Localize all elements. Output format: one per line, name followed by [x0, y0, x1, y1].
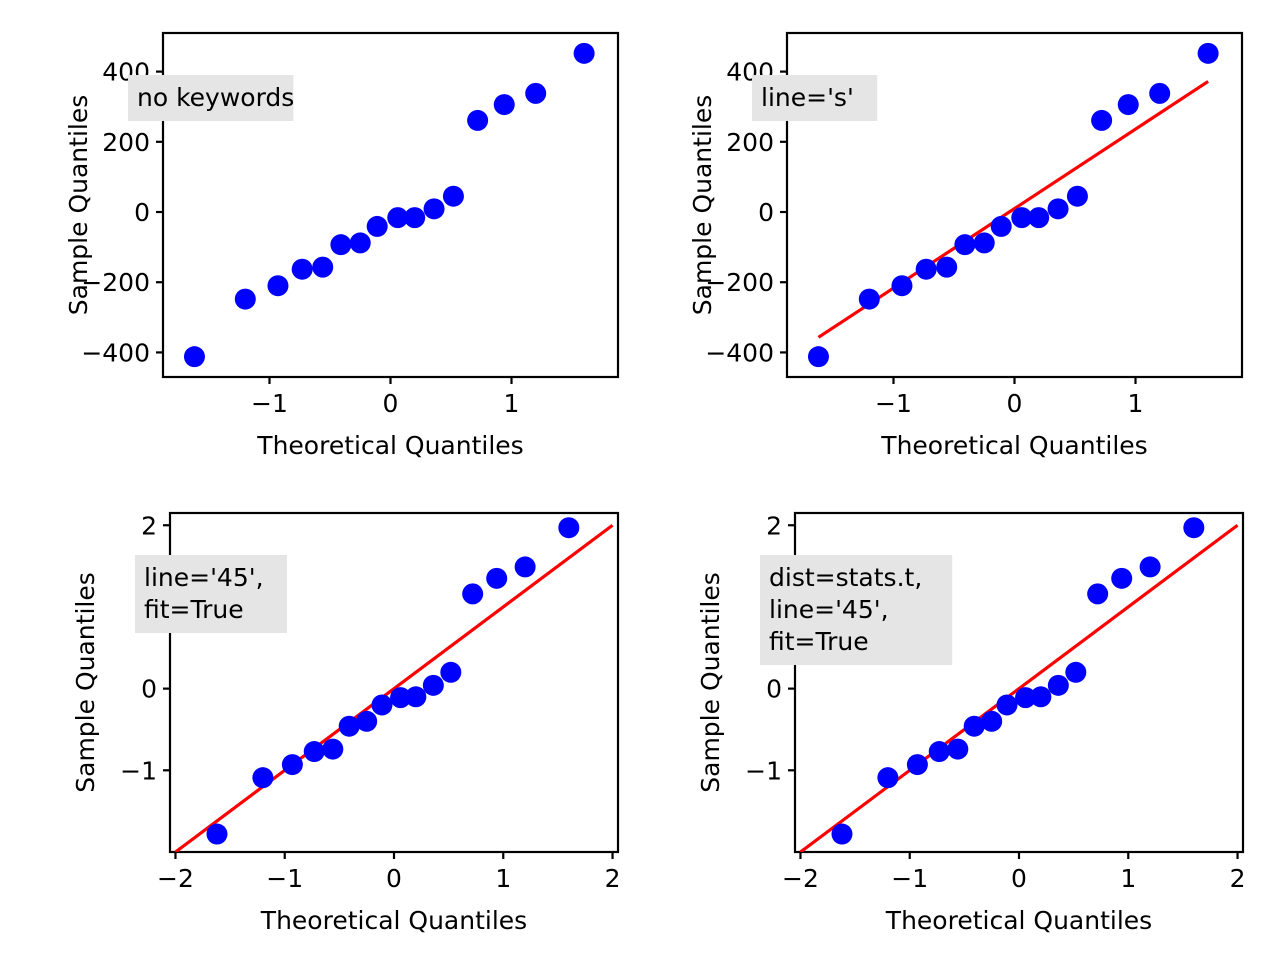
- data-point: [292, 259, 313, 280]
- data-point: [1048, 198, 1069, 219]
- x-tick-label: −1: [891, 864, 928, 893]
- data-point: [1048, 675, 1069, 696]
- y-tick-label: 2: [141, 511, 157, 540]
- y-tick-label: −1: [120, 756, 157, 785]
- panel-top-left-svg: −101−400−2000200400Theoretical Quantiles…: [0, 0, 640, 480]
- annotation-label: line='s': [761, 83, 854, 112]
- qq-plot-figure: −101−400−2000200400Theoretical Quantiles…: [0, 0, 1280, 960]
- x-tick-label: 1: [1128, 389, 1144, 418]
- data-point: [558, 517, 579, 538]
- data-point: [831, 824, 852, 845]
- x-tick-label: −1: [266, 864, 303, 893]
- y-axis-label: Sample Quantiles: [696, 572, 725, 792]
- data-point: [356, 711, 377, 732]
- x-tick-label: 2: [1230, 864, 1246, 893]
- x-tick-label: 0: [383, 389, 399, 418]
- data-point: [515, 556, 536, 577]
- x-tick-label: 2: [605, 864, 621, 893]
- data-point: [1118, 94, 1139, 115]
- data-point: [184, 346, 205, 367]
- data-point: [891, 275, 912, 296]
- data-point: [322, 739, 343, 760]
- x-tick-label: −1: [875, 389, 912, 418]
- data-point: [859, 289, 880, 310]
- data-point: [267, 275, 288, 296]
- data-point: [929, 741, 950, 762]
- data-point: [996, 694, 1017, 715]
- data-point: [1067, 186, 1088, 207]
- y-tick-label: 200: [726, 128, 774, 157]
- x-tick-label: −2: [157, 864, 194, 893]
- data-point: [808, 346, 829, 367]
- data-point: [304, 741, 325, 762]
- panel-top-right: −101−400−2000200400Theoretical Quantiles…: [640, 0, 1280, 480]
- data-point: [936, 257, 957, 278]
- data-point: [974, 232, 995, 253]
- data-point: [405, 686, 426, 707]
- panel-bottom-right: −2−1012−1012Theoretical QuantilesSample …: [640, 480, 1280, 960]
- data-point: [404, 207, 425, 228]
- data-point: [462, 583, 483, 604]
- y-axis-label: Sample Quantiles: [688, 95, 717, 315]
- panel-bottom-left: −2−1012−1012Theoretical QuantilesSample …: [0, 480, 640, 960]
- panel-bottom-left-svg: −2−1012−1012Theoretical QuantilesSample …: [0, 480, 640, 960]
- data-point: [1030, 686, 1051, 707]
- data-point: [954, 234, 975, 255]
- y-axis-label: Sample Quantiles: [64, 95, 93, 315]
- data-point: [907, 754, 928, 775]
- data-point: [1183, 517, 1204, 538]
- data-point: [486, 568, 507, 589]
- data-point: [1140, 556, 1161, 577]
- data-point: [312, 257, 333, 278]
- x-tick-label: 0: [1007, 389, 1023, 418]
- data-point: [1198, 43, 1219, 64]
- y-tick-label: −1: [745, 756, 782, 785]
- x-tick-label: −1: [251, 389, 288, 418]
- x-axis-label: Theoretical Quantiles: [880, 431, 1147, 460]
- data-point: [525, 83, 546, 104]
- x-tick-label: 1: [1120, 864, 1136, 893]
- data-point: [423, 675, 444, 696]
- x-axis-label: Theoretical Quantiles: [260, 906, 527, 935]
- x-axis-label: Theoretical Quantiles: [885, 906, 1152, 935]
- y-tick-label: 0: [134, 198, 150, 227]
- y-axis-label: Sample Quantiles: [71, 572, 100, 792]
- data-point: [440, 662, 461, 683]
- data-point: [877, 767, 898, 788]
- data-point: [206, 824, 227, 845]
- data-point: [494, 94, 515, 115]
- annotation-label: no keywords: [137, 83, 294, 112]
- data-point: [443, 186, 464, 207]
- data-point: [252, 767, 273, 788]
- data-point: [282, 754, 303, 775]
- x-tick-label: −2: [782, 864, 819, 893]
- y-tick-label: 2: [766, 511, 782, 540]
- data-point: [1149, 83, 1170, 104]
- y-tick-label: −400: [705, 338, 774, 367]
- data-point: [330, 234, 351, 255]
- data-point: [991, 216, 1012, 237]
- data-point: [367, 216, 388, 237]
- data-point: [1087, 583, 1108, 604]
- data-point: [1091, 110, 1112, 131]
- data-point: [1111, 568, 1132, 589]
- data-point: [1065, 662, 1086, 683]
- panel-top-right-svg: −101−400−2000200400Theoretical Quantiles…: [640, 0, 1280, 480]
- x-tick-label: 1: [495, 864, 511, 893]
- data-point: [981, 711, 1002, 732]
- panel-bottom-right-svg: −2−1012−1012Theoretical QuantilesSample …: [640, 480, 1280, 960]
- y-tick-label: −400: [81, 338, 150, 367]
- y-tick-label: 0: [141, 675, 157, 704]
- data-point: [424, 198, 445, 219]
- data-point: [574, 43, 595, 64]
- data-point: [350, 232, 371, 253]
- y-tick-label: 0: [766, 675, 782, 704]
- y-tick-label: 0: [758, 198, 774, 227]
- x-axis-label: Theoretical Quantiles: [256, 431, 523, 460]
- x-tick-label: 0: [386, 864, 402, 893]
- data-point: [1028, 207, 1049, 228]
- data-point: [916, 259, 937, 280]
- data-point: [947, 739, 968, 760]
- y-tick-label: 200: [102, 128, 150, 157]
- data-point: [235, 289, 256, 310]
- data-point: [467, 110, 488, 131]
- data-point: [371, 694, 392, 715]
- panel-top-left: −101−400−2000200400Theoretical Quantiles…: [0, 0, 640, 480]
- x-tick-label: 0: [1011, 864, 1027, 893]
- x-tick-label: 1: [504, 389, 520, 418]
